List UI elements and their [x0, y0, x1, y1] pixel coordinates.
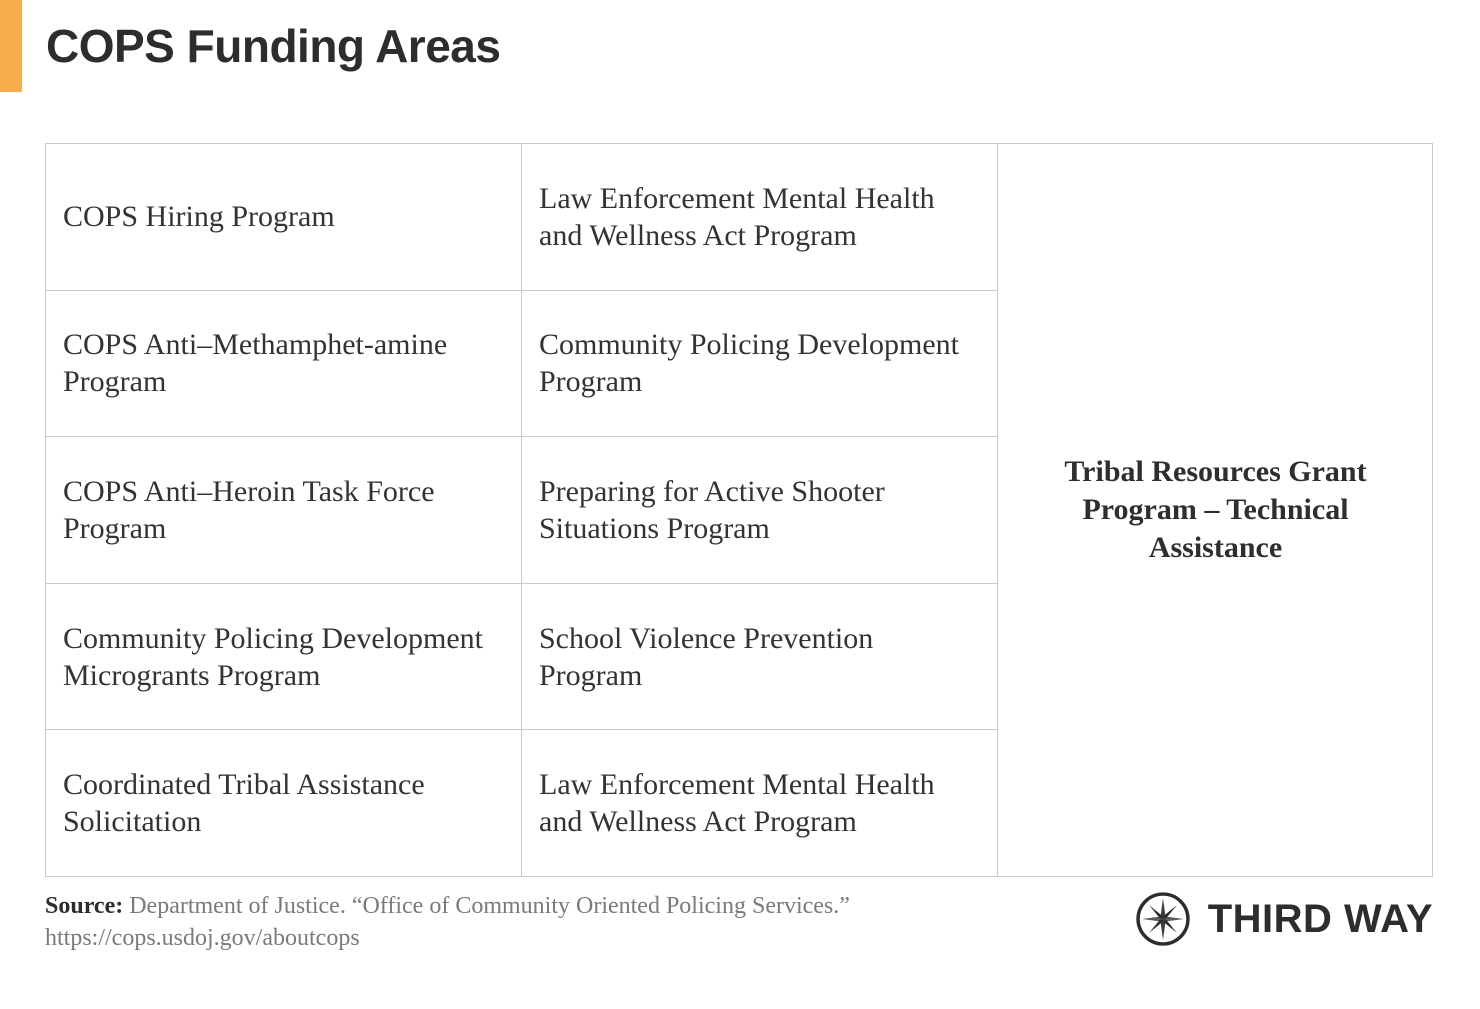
cops-funding-areas-table: COPS Hiring Program COPS Anti–Methamphet… [45, 143, 1433, 877]
third-way-logo: THIRD WAY [1134, 890, 1433, 948]
table-cell: Law Enforcement Mental Health and Wellne… [522, 730, 997, 876]
source-description: Department of Justice. “Office of Commun… [129, 893, 850, 919]
table-column-3-merged-cell: Tribal Resources Grant Program – Technic… [999, 144, 1432, 876]
table-column-1: COPS Hiring Program COPS Anti–Methamphet… [46, 144, 522, 876]
tribal-resources-grant-label: Tribal Resources Grant Program – Technic… [1021, 453, 1410, 567]
table-cell: COPS Hiring Program [46, 144, 521, 291]
orange-accent-bar [0, 0, 22, 92]
table-cell: School Violence Prevention Program [522, 584, 997, 731]
source-label: Source: [45, 893, 123, 919]
source-url: https://cops.usdoj.gov/aboutcops [45, 922, 1045, 954]
table-cell: COPS Anti–Methamphet-amine Program [46, 291, 521, 438]
source-citation: Source: Department of Justice. “Office o… [45, 890, 1045, 954]
compass-rose-icon [1134, 890, 1192, 948]
page-title: COPS Funding Areas [46, 17, 500, 75]
table-column-pair: COPS Hiring Program COPS Anti–Methamphet… [46, 144, 999, 876]
table-cell: COPS Anti–Heroin Task Force Program [46, 437, 521, 584]
table-cell: Coordinated Tribal Assistance Solicitati… [46, 730, 521, 876]
table-column-2: Law Enforcement Mental Health and Wellne… [522, 144, 998, 876]
table-cell: Law Enforcement Mental Health and Wellne… [522, 144, 997, 291]
brand-name: THIRD WAY [1208, 897, 1433, 941]
table-cell: Community Policing Development Microgran… [46, 584, 521, 731]
table-cell: Preparing for Active Shooter Situations … [522, 437, 997, 584]
table-cell: Community Policing Development Program [522, 291, 997, 438]
